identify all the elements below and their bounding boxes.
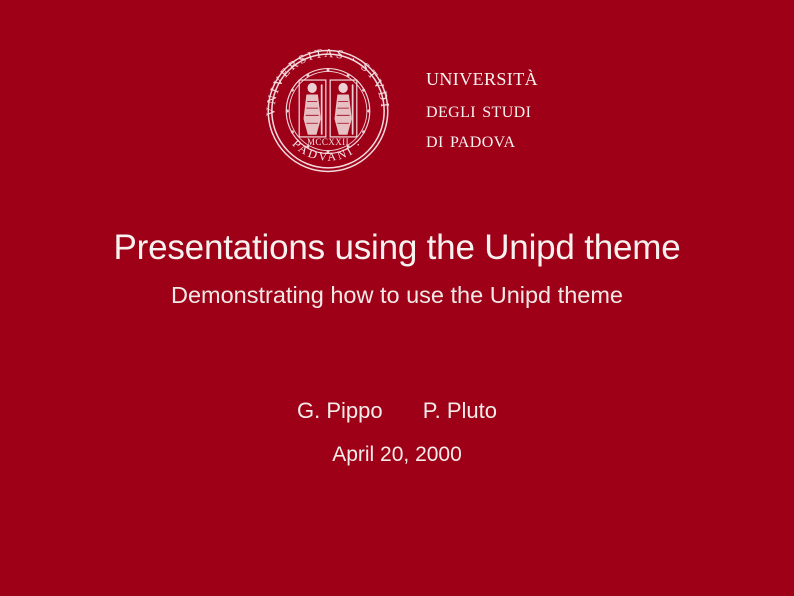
presentation-subtitle: Demonstrating how to use the Unipd theme [0, 281, 794, 309]
title-slide: VNIVERSITAS · STVDII PADVANI · [0, 0, 794, 596]
author-list: G. Pippo P. Pluto [0, 398, 794, 424]
seal-year-label: MCCXXII [307, 137, 349, 147]
wordmark-line-1: Università [426, 62, 538, 95]
wordmark-line-3: di Padova [426, 125, 538, 156]
institution-logo-block: VNIVERSITAS · STVDII PADVANI · [0, 36, 794, 186]
title-block: Presentations using the Unipd theme Demo… [0, 228, 794, 309]
svg-text:VNIVERSITAS · STVDII: VNIVERSITAS · STVDII [256, 38, 392, 116]
wordmark-line-2: degli Studi [426, 95, 538, 126]
author-name: P. Pluto [423, 398, 497, 424]
university-wordmark: Università degli Studi di Padova [426, 62, 538, 160]
presentation-date: April 20, 2000 [0, 443, 794, 467]
presentation-title: Presentations using the Unipd theme [0, 228, 794, 267]
university-of-padova-seal-icon: VNIVERSITAS · STVDII PADVANI · [256, 38, 400, 184]
author-name: G. Pippo [297, 398, 383, 424]
